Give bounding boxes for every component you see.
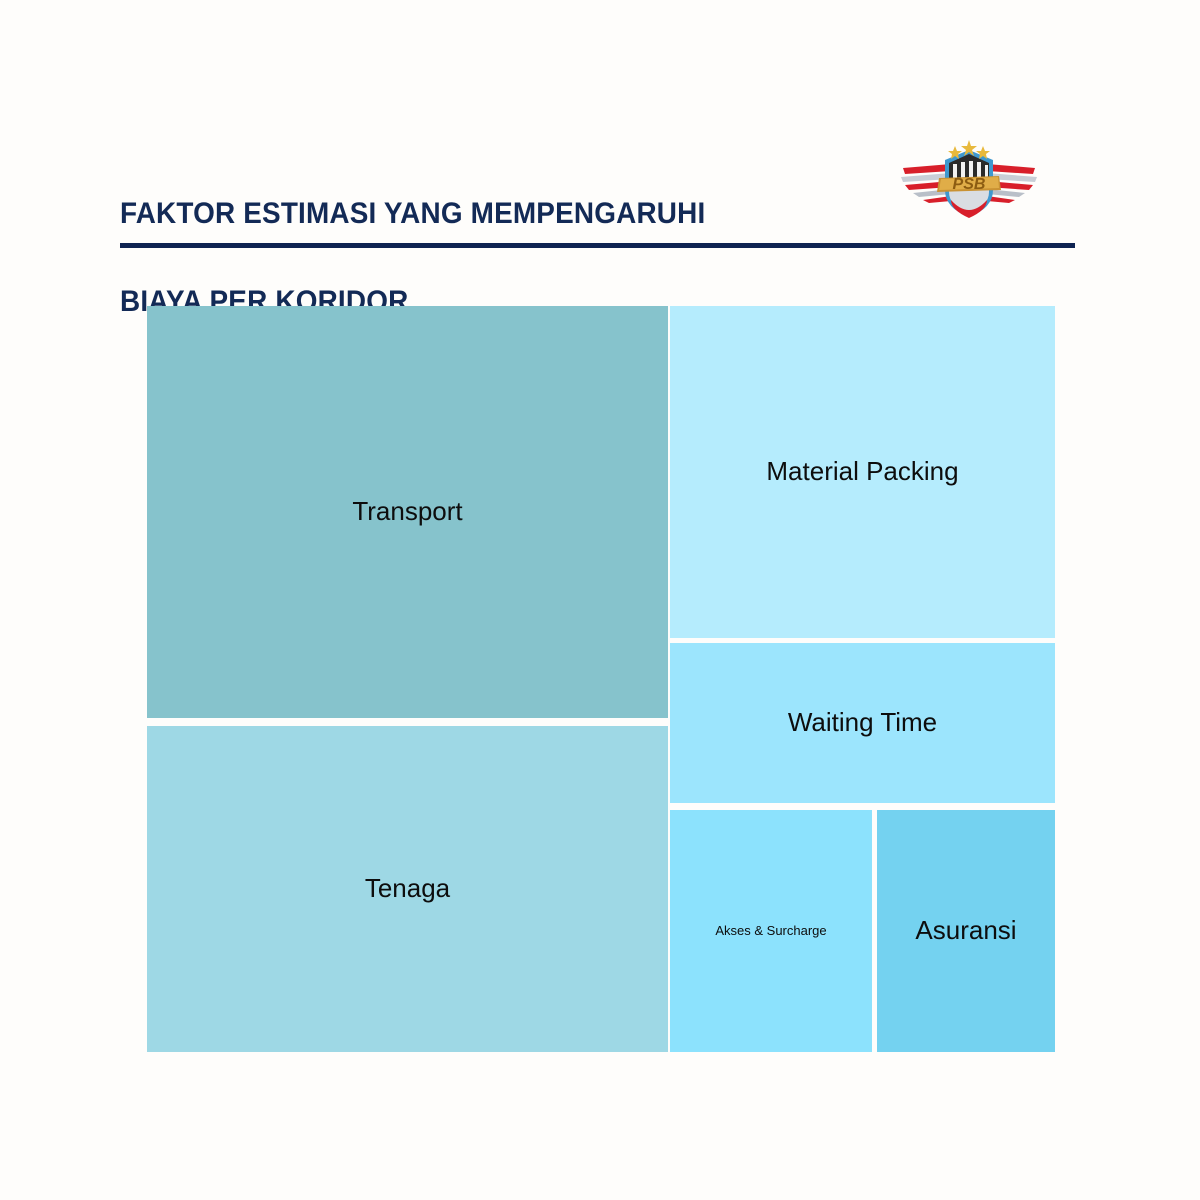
treemap-tile-label: Tenaga — [359, 873, 456, 904]
treemap-tile-label: Material Packing — [760, 456, 964, 487]
treemap-chart: Transport Tenaga Material Packing Waitin… — [147, 306, 1055, 1052]
treemap-tile-label: Transport — [346, 496, 468, 527]
treemap-tile-label: Asuransi — [909, 915, 1022, 946]
treemap-tile-asuransi[interactable]: Asuransi — [877, 810, 1055, 1052]
psb-winged-shield-logo: PSB — [897, 134, 1041, 220]
treemap-tile-label: Akses & Surcharge — [709, 923, 832, 939]
treemap-tile-material-packing[interactable]: Material Packing — [670, 306, 1055, 638]
treemap-tile-label: Waiting Time — [782, 707, 943, 738]
treemap-tile-waiting-time[interactable]: Waiting Time — [670, 643, 1055, 803]
treemap-tile-akses-surcharge[interactable]: Akses & Surcharge — [670, 810, 872, 1052]
treemap-tile-tenaga[interactable]: Tenaga — [147, 726, 668, 1052]
header-divider-rule — [120, 243, 1075, 248]
logo-wordmark-text: PSB — [953, 176, 986, 193]
treemap-tile-transport[interactable]: Transport — [147, 306, 668, 718]
page-title-line-1: FAKTOR ESTIMASI YANG MEMPENGARUHI — [120, 192, 771, 236]
